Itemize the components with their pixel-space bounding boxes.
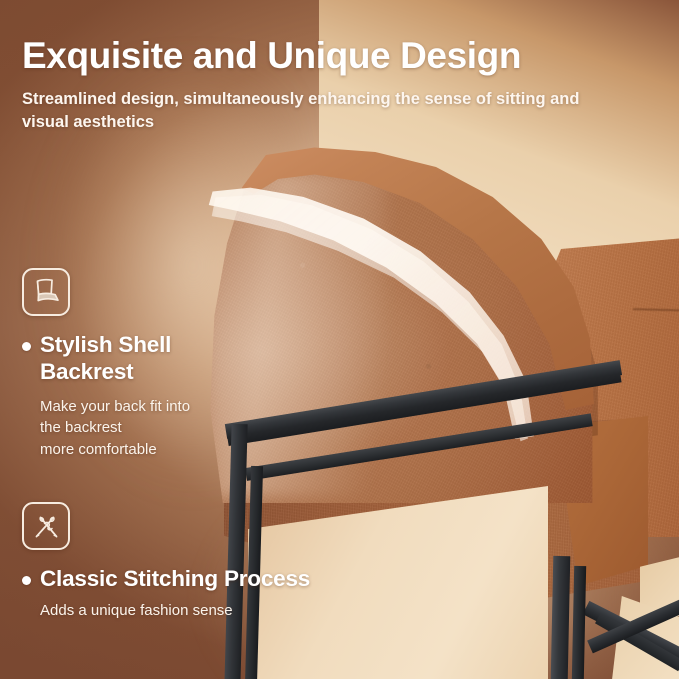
feature-description: Make your back fit into the backrest mor…: [40, 396, 190, 460]
page-subtitle: Streamlined design, simultaneously enhan…: [22, 88, 602, 135]
bullet-icon: [22, 576, 31, 585]
frame-leg-right-inner: [572, 566, 586, 679]
page-title: Exquisite and Unique Design: [22, 36, 521, 76]
chair-shell-backrest-icon: [22, 268, 70, 316]
feature-description: Adds a unique fashion sense: [40, 600, 310, 621]
feature-title-text: Stylish Shell Backrest: [40, 332, 171, 385]
bullet-icon: [22, 342, 31, 351]
feature-classic-stitching-process: Classic Stitching Process Adds a unique …: [22, 502, 310, 621]
feature-title: Stylish Shell Backrest: [22, 332, 190, 385]
frame-leg-right: [551, 556, 571, 679]
feature-title: Classic Stitching Process: [22, 566, 310, 593]
feature-stylish-shell-backrest: Stylish Shell Backrest Make your back fi…: [22, 268, 190, 460]
feature-title-text: Classic Stitching Process: [40, 566, 310, 593]
needle-and-thread-icon: [22, 502, 70, 550]
promotional-product-banner: Exquisite and Unique Design Streamlined …: [0, 0, 679, 679]
